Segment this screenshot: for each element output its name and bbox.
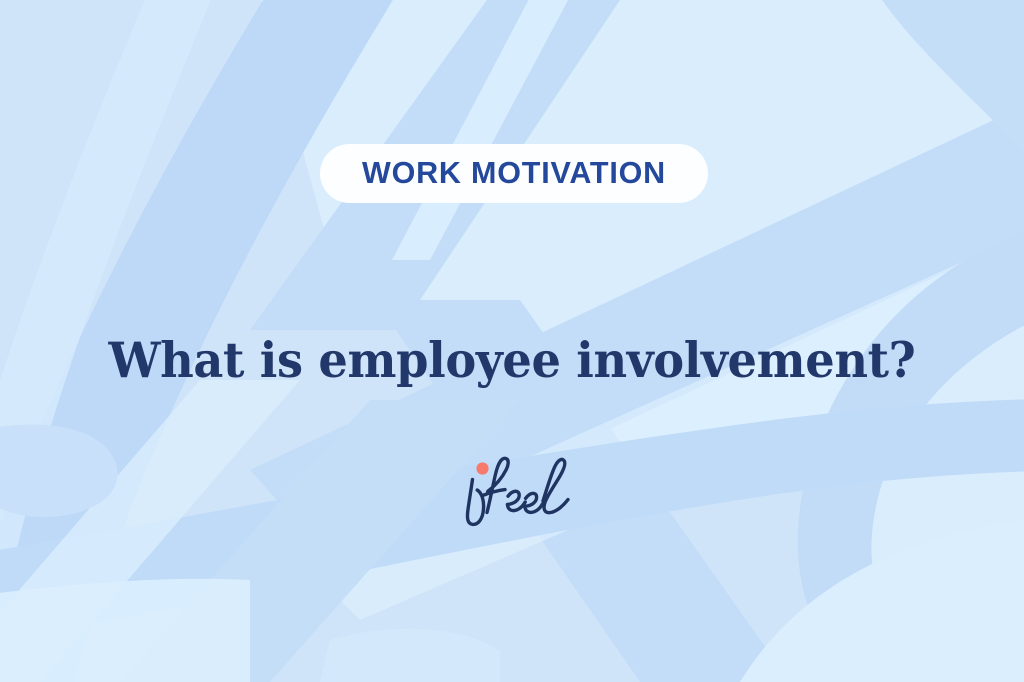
- page-title: What is employee involvement?: [109, 333, 916, 388]
- logo-accent-dot-icon: [476, 462, 488, 474]
- category-badge: WORK MOTIVATION: [320, 144, 708, 203]
- card-content: WORK MOTIVATION What is employee involve…: [0, 0, 1024, 682]
- category-badge-label: WORK MOTIVATION: [362, 158, 666, 189]
- headline-container: What is employee involvement?: [0, 300, 1024, 421]
- ifeel-logo-svg: [452, 452, 576, 530]
- social-card: WORK MOTIVATION What is employee involve…: [0, 0, 1024, 682]
- ifeel-logo: [452, 452, 576, 530]
